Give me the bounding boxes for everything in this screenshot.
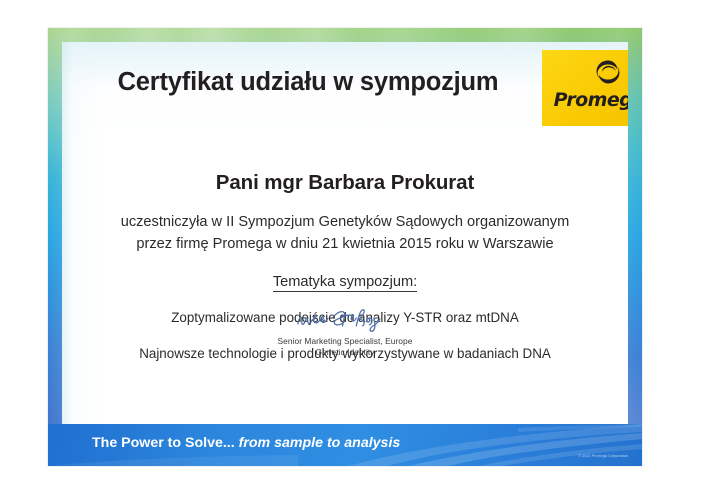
footer-tagline: The Power to Solve... from sample to ana… [92, 435, 400, 451]
recipient-name: Pani mgr Barbara Prokurat [62, 171, 628, 195]
copyright-notice: © 2013 Promega Corporation [578, 454, 628, 458]
certificate-title: Certyfikat udziału w sympozjum [88, 68, 528, 97]
handwritten-signature-icon [291, 304, 399, 334]
certificate-footer: The Power to Solve... from sample to ana… [48, 424, 642, 466]
citation-line-2: przez firmę Promega w dniu 21 kwietnia 2… [62, 234, 628, 255]
promega-wordmark: Promega [542, 89, 628, 111]
footer-tagline-italic: from sample to analysis [235, 435, 401, 451]
topics-heading: Tematyka sympozjum: [62, 274, 628, 290]
topics-heading-text: Tematyka sympozjum: [273, 274, 417, 292]
certificate-card: Certyfikat udziału w sympozjum Promega P… [62, 42, 628, 424]
footer-tagline-bold: The Power to Solve... [92, 435, 235, 451]
citation-line-1: uczestniczyła w II Sympozjum Genetyków S… [62, 212, 628, 233]
certificate-header: Certyfikat udziału w sympozjum Promega [62, 42, 628, 126]
signature-block: Senior Marketing Specialist, Europe Gene… [62, 304, 628, 358]
promega-logo-box: Promega [542, 50, 628, 126]
signature-department: Genetic Identity [62, 347, 628, 358]
certificate-frame: Certyfikat udziału w sympozjum Promega P… [48, 28, 642, 466]
signature-title: Senior Marketing Specialist, Europe [62, 336, 628, 347]
promega-swoosh-icon [595, 59, 621, 85]
certificate-page: Certyfikat udziału w sympozjum Promega P… [0, 0, 702, 492]
